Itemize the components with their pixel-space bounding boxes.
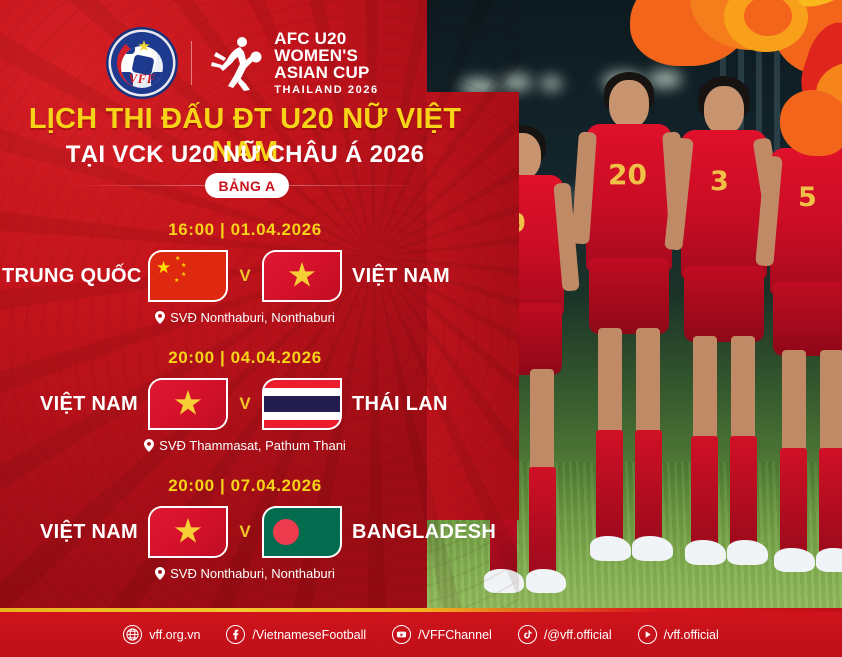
thailand-flag: [264, 380, 340, 428]
away-team-name: VIỆT NAM: [340, 265, 488, 288]
header-logo-row: ★ VFF AFC U20 WOMEN'S: [0, 24, 490, 102]
footer-link-website[interactable]: vff.org.vn: [123, 625, 200, 644]
home-team-name: VIỆT NAM: [2, 393, 150, 416]
player-number: 3: [710, 166, 729, 197]
venue-text: SVĐ Nonthaburi, Nonthaburi: [170, 566, 335, 581]
match-datetime: 20:00 | 04.04.2026: [0, 348, 490, 368]
vff-crest-label: VFF: [111, 71, 173, 87]
star-icon: ★: [137, 40, 151, 54]
tiktok-icon: [518, 625, 537, 644]
player-number: 20: [608, 158, 647, 191]
home-team-name: TRUNG QUỐC: [2, 265, 150, 288]
afc-line3: ASIAN CUP: [274, 64, 379, 81]
footer-link-video[interactable]: /vff.official: [638, 625, 719, 644]
away-team-name: BANGLADESH: [340, 521, 488, 544]
page-subtitle: TẠI VCK U20 NỮ CHÂU Á 2026: [0, 141, 490, 169]
afc-line2: WOMEN'S: [274, 47, 379, 64]
location-pin-icon: [144, 439, 154, 455]
facebook-icon: [226, 625, 245, 644]
footer-link-label: /VFFChannel: [418, 628, 492, 642]
footer-link-label: vff.org.vn: [149, 628, 200, 642]
match-datetime: 20:00 | 07.04.2026: [0, 476, 490, 496]
footer-bar: vff.org.vn /VietnameseFootball /VFFChann…: [0, 612, 842, 657]
away-team-name: THÁI LAN: [340, 393, 488, 416]
venue-text: SVĐ Nonthaburi, Nonthaburi: [170, 310, 335, 325]
bangladesh-flag: [264, 508, 340, 556]
vietnam-flag: ★: [150, 508, 226, 556]
match-row: 20:00 | 07.04.2026 VIỆT NAM ★ V BANGLADE…: [0, 476, 490, 583]
location-pin-icon: [155, 311, 165, 327]
match-row: 16:00 | 01.04.2026 TRUNG QUỐC ★ ★ ★ ★ ★ …: [0, 220, 490, 327]
group-badge: BẢNG A: [205, 173, 289, 198]
china-flag: ★ ★ ★ ★ ★: [150, 252, 226, 300]
footer-link-label: /@vff.official: [544, 628, 612, 642]
vietnam-flag: ★: [264, 252, 340, 300]
footer-link-facebook[interactable]: /VietnameseFootball: [226, 625, 366, 644]
vietnam-flag: ★: [150, 380, 226, 428]
footer-link-youtube[interactable]: /VFFChannel: [392, 625, 492, 644]
afc-tournament-logo: AFC U20 WOMEN'S ASIAN CUP THAILAND 2026: [210, 30, 379, 96]
vff-logo: ★ VFF: [111, 32, 173, 94]
match-venue: SVĐ Nonthaburi, Nonthaburi: [0, 566, 490, 583]
footer-link-label: /VietnameseFootball: [252, 628, 366, 642]
versus-label: V: [226, 522, 264, 542]
player-figure: 5: [758, 92, 842, 612]
poster-canvas: 9 20: [0, 0, 842, 657]
footer-link-label: /vff.official: [664, 628, 719, 642]
venue-text: SVĐ Thammasat, Pathum Thani: [159, 438, 346, 453]
home-team-name: VIỆT NAM: [2, 521, 150, 544]
location-pin-icon: [155, 567, 165, 583]
versus-label: V: [226, 394, 264, 414]
play-icon: [638, 625, 657, 644]
match-row: 20:00 | 04.04.2026 VIỆT NAM ★ V THÁI LAN…: [0, 348, 490, 455]
afc-line4: THAILAND 2026: [274, 84, 379, 96]
player-number: 5: [798, 182, 817, 213]
footer-link-tiktok[interactable]: /@vff.official: [518, 625, 612, 644]
versus-label: V: [226, 266, 264, 286]
afc-line1: AFC U20: [274, 30, 379, 47]
globe-icon: [123, 625, 142, 644]
logo-divider: [191, 41, 192, 85]
player-silhouette-icon: [210, 34, 262, 92]
match-datetime: 16:00 | 01.04.2026: [0, 220, 490, 240]
youtube-icon: [392, 625, 411, 644]
match-venue: SVĐ Thammasat, Pathum Thani: [0, 438, 490, 455]
match-venue: SVĐ Nonthaburi, Nonthaburi: [0, 310, 490, 327]
